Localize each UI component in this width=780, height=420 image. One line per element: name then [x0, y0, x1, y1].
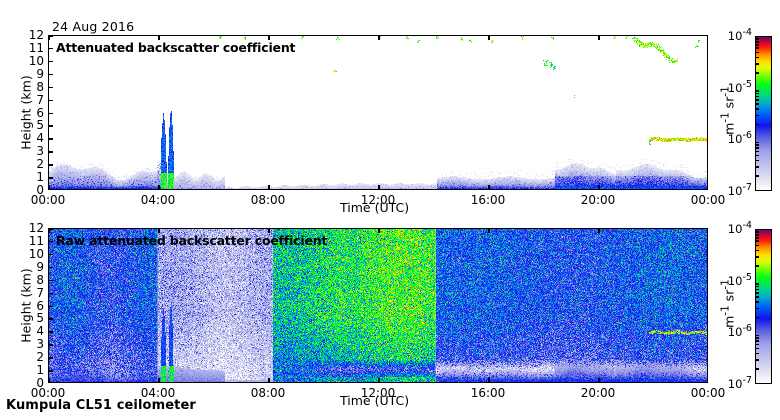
x-tick-mark	[707, 378, 709, 383]
x-tick-label: 16:00	[468, 193, 508, 207]
colorbar-minor-tick	[755, 44, 759, 46]
colorbar-minor-tick	[755, 231, 759, 233]
colorbar-minor-tick	[755, 359, 759, 361]
y-tick-label: 6	[16, 106, 44, 120]
y-tick-label: 5	[16, 118, 44, 132]
colorbar-minor-tick	[755, 175, 759, 177]
panel-title-raw: Raw attenuated backscatter coefficient	[56, 233, 327, 248]
y-tick-mark	[48, 100, 53, 102]
y-tick-mark	[48, 382, 53, 384]
x-tick-label: 20:00	[578, 193, 618, 207]
colorbar-minor-tick	[755, 57, 759, 59]
x-tick-label: 12:00	[358, 386, 398, 400]
colorbar-minor-tick	[755, 96, 759, 98]
x-tick-mark	[707, 185, 709, 190]
colorbar-minor-tick	[755, 160, 759, 162]
colorbar-minor-tick	[755, 72, 759, 74]
colorbar-minor-tick	[755, 337, 759, 339]
colorbar-minor-tick	[755, 286, 759, 288]
y-tick-label: 2	[16, 157, 44, 171]
colorbar-minor-tick	[755, 41, 759, 43]
x-tick-mark	[488, 378, 490, 383]
x-tick-label: 08:00	[248, 386, 288, 400]
x-tick-label: 12:00	[358, 193, 398, 207]
colorbar-minor-tick	[755, 142, 759, 144]
y-tick-label: 7	[16, 93, 44, 107]
x-tick-label: 16:00	[468, 386, 508, 400]
colorbar-minor-tick	[755, 335, 759, 337]
y-tick-label: 2	[16, 350, 44, 364]
y-tick-label: 4	[16, 324, 44, 338]
y-tick-label: 11	[16, 41, 44, 55]
x-tick-mark-top	[598, 228, 600, 233]
colorbar-minor-tick	[755, 348, 759, 350]
y-tick-label: 6	[16, 299, 44, 313]
y-tick-mark	[48, 177, 53, 179]
colorbar-minor-tick	[755, 301, 759, 303]
y-tick-mark	[48, 370, 53, 372]
colorbar-minor-tick	[755, 292, 759, 294]
y-tick-mark	[48, 267, 53, 269]
panel-title-attenuated: Attenuated backscatter coefficient	[56, 40, 295, 55]
date-label: 24 Aug 2016	[52, 19, 134, 34]
colorbar-minor-tick	[755, 151, 759, 153]
x-tick-mark	[378, 378, 380, 383]
y-tick-mark	[48, 125, 53, 127]
colorbar-minor-tick	[755, 47, 759, 49]
colorbar-minor-tick	[755, 108, 759, 110]
colorbar-minor-tick	[755, 289, 759, 291]
y-tick-mark	[48, 241, 53, 243]
x-tick-mark	[598, 378, 600, 383]
y-tick-label: 8	[16, 273, 44, 287]
y-tick-mark	[48, 254, 53, 256]
y-tick-mark	[48, 35, 53, 37]
colorbar-tick-label: 10-7	[722, 375, 752, 391]
y-tick-label: 3	[16, 337, 44, 351]
colorbar-minor-tick	[755, 308, 759, 310]
y-tick-mark	[48, 331, 53, 333]
x-tick-mark	[488, 185, 490, 190]
y-tick-label: 1	[16, 170, 44, 184]
colorbar-minor-tick	[755, 237, 759, 239]
colorbar-minor-tick	[755, 144, 759, 146]
cb-unit-m-exp-2: -1	[719, 305, 731, 315]
colorbar-minor-tick	[755, 317, 759, 319]
colorbar-tick-label: 10-4	[722, 220, 752, 236]
colorbar-tick-label: 10-7	[722, 182, 752, 198]
y-tick-label: 9	[16, 260, 44, 274]
y-tick-label: 3	[16, 144, 44, 158]
x-tick-mark	[268, 185, 270, 190]
colorbar-minor-tick	[755, 166, 759, 168]
y-tick-label: 8	[16, 80, 44, 94]
colorbar-minor-tick	[755, 63, 759, 65]
colorbar-tick-label: 10-4	[722, 27, 752, 43]
x-tick-mark	[158, 185, 160, 190]
colorbar-minor-tick	[755, 283, 759, 285]
footer-instrument-label: Kumpula CL51 ceilometer	[6, 398, 196, 413]
y-tick-mark	[48, 113, 53, 115]
cb-unit-m-exp: -1	[719, 112, 731, 122]
y-tick-mark	[48, 48, 53, 50]
colorbar-minor-tick	[755, 234, 759, 236]
colorbar-minor-tick	[755, 93, 759, 95]
colorbar-minor-tick	[755, 296, 759, 298]
y-tick-label: 10	[16, 247, 44, 261]
colorbar-minor-tick	[755, 52, 759, 54]
y-tick-label: 10	[16, 54, 44, 68]
y-tick-mark	[48, 318, 53, 320]
colorbar-minor-tick	[755, 353, 759, 355]
y-tick-mark	[48, 151, 53, 153]
y-tick-label: 11	[16, 234, 44, 248]
x-tick-mark-top	[378, 35, 380, 40]
y-tick-label: 7	[16, 286, 44, 300]
ceilometer-figure: 24 Aug 2016 Attenuated backscatter coeff…	[0, 0, 780, 420]
x-tick-mark-top	[707, 228, 709, 233]
colorbar-minor-tick	[755, 115, 759, 117]
colorbar-minor-tick	[755, 245, 759, 247]
colorbar-minor-tick	[755, 103, 759, 105]
y-tick-mark	[48, 74, 53, 76]
colorbar-minor-tick	[755, 90, 759, 92]
colorbar-tick-label: 10-6	[722, 323, 752, 339]
x-tick-mark-top	[598, 35, 600, 40]
y-tick-label: 12	[16, 221, 44, 235]
y-tick-mark	[48, 189, 53, 191]
colorbar-tick-label: 10-5	[722, 79, 752, 95]
cb-unit-sr: sr	[722, 97, 737, 113]
y-tick-label: 0	[16, 376, 44, 390]
colorbar-minor-tick	[755, 124, 759, 126]
x-tick-mark	[158, 378, 160, 383]
colorbar-minor-tick	[755, 99, 759, 101]
y-tick-mark	[48, 280, 53, 282]
colorbar-minor-tick	[755, 256, 759, 258]
colorbar-tick-label: 10-5	[722, 272, 752, 288]
colorbar-minor-tick	[755, 147, 759, 149]
y-tick-label: 12	[16, 28, 44, 42]
colorbar-minor-tick	[755, 155, 759, 157]
colorbar-minor-tick	[755, 38, 759, 40]
colorbar-minor-tick	[755, 240, 759, 242]
y-tick-label: 5	[16, 311, 44, 325]
x-tick-label: 20:00	[578, 386, 618, 400]
x-tick-mark	[268, 378, 270, 383]
y-tick-mark	[48, 228, 53, 230]
x-tick-label: 08:00	[248, 193, 288, 207]
y-tick-mark	[48, 87, 53, 89]
y-tick-mark	[48, 344, 53, 346]
x-tick-mark-top	[378, 228, 380, 233]
x-tick-label: 04:00	[138, 193, 178, 207]
plot-area-attenuated-backscatter[interactable]	[48, 35, 708, 190]
colorbar-minor-tick	[755, 265, 759, 267]
colorbar-tick-label: 10-6	[722, 130, 752, 146]
y-tick-label: 0	[16, 183, 44, 197]
y-tick-mark	[48, 306, 53, 308]
y-tick-mark	[48, 164, 53, 166]
x-tick-mark-top	[707, 35, 709, 40]
colorbar-minor-tick	[755, 344, 759, 346]
colorbar-minor-tick	[755, 340, 759, 342]
x-tick-mark-top	[488, 35, 490, 40]
x-tick-mark	[598, 185, 600, 190]
cb-unit-sr-2: sr	[722, 290, 737, 306]
x-tick-mark-top	[488, 228, 490, 233]
plot-area-raw-attenuated-backscatter[interactable]	[48, 228, 708, 383]
y-tick-mark	[48, 138, 53, 140]
y-tick-label: 4	[16, 131, 44, 145]
colorbar-minor-tick	[755, 250, 759, 252]
y-tick-label: 9	[16, 67, 44, 81]
y-tick-label: 1	[16, 363, 44, 377]
y-tick-mark	[48, 61, 53, 63]
x-tick-mark	[378, 185, 380, 190]
colorbar-minor-tick	[755, 368, 759, 370]
y-tick-mark	[48, 357, 53, 359]
y-tick-mark	[48, 293, 53, 295]
